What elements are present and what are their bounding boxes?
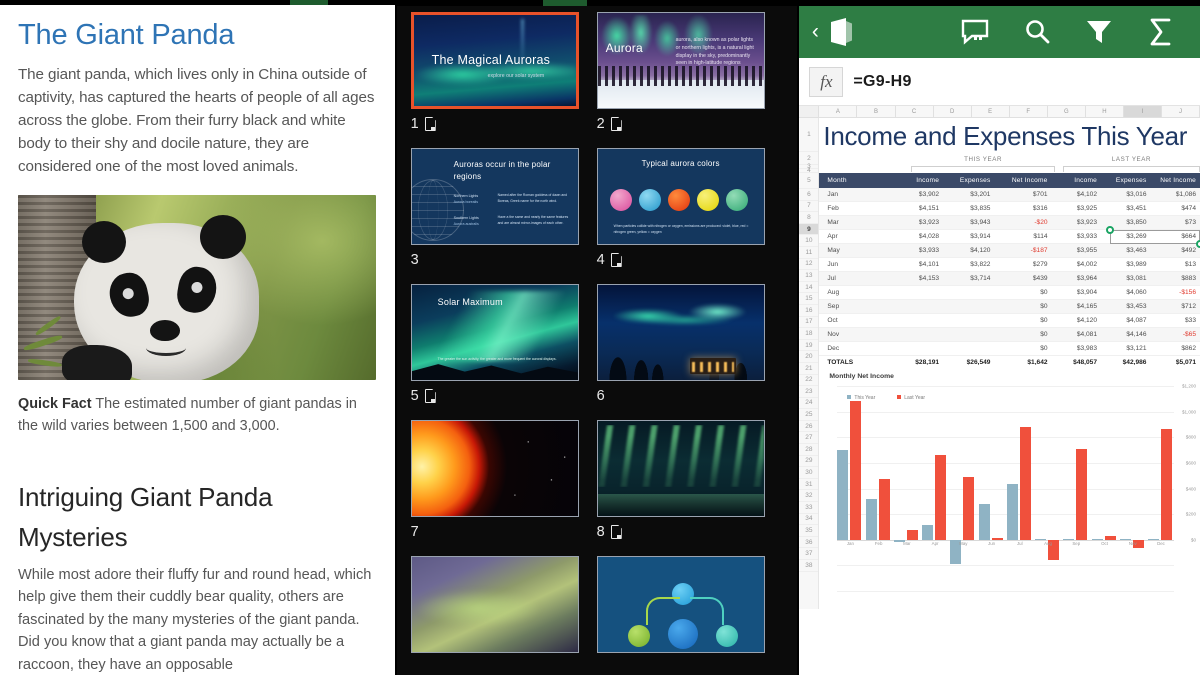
chart-x-tick: Jun: [979, 541, 1005, 546]
color-dot-red: [668, 189, 690, 211]
row-number-37[interactable]: 37: [799, 548, 818, 560]
slide-cell-5[interactable]: Solar Maximum The greater the sun activi…: [411, 284, 579, 406]
table-body[interactable]: Jan$3,902$3,201$701$4,102$3,016$1,086Feb…: [819, 188, 1200, 369]
word-status-bar: [0, 0, 395, 5]
cell-ty-net[interactable]: -$20: [994, 216, 1051, 230]
status-bar-green-accent: [290, 0, 328, 5]
table-row[interactable]: Nov$0$4,081$4,146-$65: [819, 328, 1200, 342]
cell-ty-expenses[interactable]: $4,120: [943, 244, 994, 258]
word-document-body[interactable]: The Giant Panda The giant panda, which l…: [0, 0, 395, 675]
table-row[interactable]: Sep$0$4,165$3,453$712: [819, 300, 1200, 314]
chart-bar: [1092, 539, 1103, 540]
slide-thumbnail-4[interactable]: Typical aurora colors When particles col…: [597, 148, 765, 245]
chart-title: Monthly Net Income: [823, 373, 1198, 380]
slide-number-4: 4: [597, 252, 605, 268]
slide-caption-1: 1: [411, 114, 579, 134]
cell-month[interactable]: Jun: [819, 258, 891, 272]
cell-ty-expenses[interactable]: [943, 328, 994, 342]
row-number-13[interactable]: 13: [799, 270, 818, 282]
chart-bar: [879, 479, 890, 540]
slide-3-body-1: Named after the Roman goddess of dawn an…: [498, 193, 570, 205]
excel-toolbar: ‹: [799, 6, 1200, 58]
row-number-7[interactable]: 7: [799, 201, 818, 213]
table-row[interactable]: Dec$0$3,983$3,121$862: [819, 342, 1200, 356]
cell-ly-expenses[interactable]: $3,850: [1101, 216, 1150, 230]
row-number-19[interactable]: 19: [799, 340, 818, 352]
th-ty-income: Income: [892, 173, 943, 188]
cell-totals-ty-expenses[interactable]: $26,549: [943, 356, 994, 370]
slide-3-def-2: Aurora australis: [454, 221, 479, 227]
slide-5-title: Solar Maximum: [438, 297, 503, 307]
table-row[interactable]: Apr$4,028$3,914$114$3,933$3,269$664: [819, 230, 1200, 244]
slide-notes-icon: [425, 117, 436, 131]
document-title: The Giant Panda: [18, 20, 377, 52]
th-ly-income: Income: [1052, 173, 1101, 188]
slide-thumbnail-7[interactable]: [411, 420, 579, 517]
slide-cell-7[interactable]: 7: [411, 420, 579, 542]
cell-totals-ly-net[interactable]: $5,071: [1150, 356, 1200, 370]
excel-spreadsheet-panel: ‹: [799, 0, 1200, 675]
cell-month[interactable]: Dec: [819, 342, 891, 356]
cell-ly-net[interactable]: $13: [1150, 258, 1200, 272]
chart-bar-group: [1007, 386, 1033, 591]
water-reflection: [598, 494, 764, 516]
sheet-title-cell[interactable]: Income and Expenses This Year: [819, 118, 1200, 153]
slide-4-title: Typical aurora colors: [598, 159, 764, 168]
cell-ty-income[interactable]: [892, 342, 943, 356]
cell-month[interactable]: Aug: [819, 286, 891, 300]
cell-ly-income[interactable]: $4,081: [1052, 328, 1101, 342]
chart-x-tick: Nov: [1120, 541, 1146, 546]
chart-bar-group: [1148, 386, 1174, 591]
slide-notes-icon: [611, 525, 622, 539]
column-header-g[interactable]: G: [1048, 106, 1086, 117]
chart-bar: [1063, 539, 1074, 540]
chart-x-tick: Mar: [894, 541, 920, 546]
row-number-16[interactable]: 16: [799, 305, 818, 317]
cell-ly-net[interactable]: $883: [1150, 272, 1200, 286]
cell-ty-income[interactable]: $4,028: [892, 230, 943, 244]
giant-panda-photo: [18, 195, 376, 380]
smartart-node-left: [628, 625, 650, 647]
row-number-18[interactable]: 18: [799, 328, 818, 340]
cell-ty-income[interactable]: $3,923: [892, 216, 943, 230]
th-ty-expenses: Expenses: [943, 173, 994, 188]
cell-ty-net[interactable]: $0: [994, 328, 1051, 342]
chart-plot-area: $1,200$1,000$800$600$400$200$0JanFebMarA…: [837, 386, 1174, 591]
column-header-f[interactable]: F: [1010, 106, 1048, 117]
smartart-node-right: [716, 625, 738, 647]
monthly-net-income-chart[interactable]: Monthly Net Income This Year Last Year $…: [819, 369, 1200, 609]
slide-cell-6[interactable]: 6: [597, 284, 765, 406]
cell-ly-income[interactable]: $3,983: [1052, 342, 1101, 356]
slide-caption-3: 3: [411, 250, 579, 270]
chart-bar: [1035, 539, 1046, 540]
cell-ty-net[interactable]: $114: [994, 230, 1051, 244]
chart-bar-group: [894, 386, 920, 591]
chart-bar: [1120, 539, 1131, 540]
cell-ty-net[interactable]: $0: [994, 342, 1051, 356]
column-header-e[interactable]: E: [972, 106, 1010, 117]
table-row[interactable]: May$3,933$4,120-$187$3,955$3,463$492: [819, 244, 1200, 258]
cell-ty-net[interactable]: $279: [994, 258, 1051, 272]
slide-cell-2[interactable]: Aurora aurora, also known as polar light…: [597, 12, 765, 134]
cell-ly-net[interactable]: $492: [1150, 244, 1200, 258]
cell-month[interactable]: Oct: [819, 314, 891, 328]
income-expenses-table[interactable]: Month Income Expenses Net Income Income …: [819, 173, 1200, 369]
aurora-glow: [598, 299, 764, 333]
row-number-28[interactable]: 28: [799, 444, 818, 456]
table-row[interactable]: Feb$4,151$3,835$316$3,925$3,451$474: [819, 202, 1200, 216]
cell-ty-expenses[interactable]: [943, 342, 994, 356]
powerpoint-slide-sorter-panel: The Magical Auroras explore our solar sy…: [397, 0, 798, 675]
cell-ly-net[interactable]: $73: [1150, 216, 1200, 230]
column-header-i[interactable]: I: [1124, 106, 1162, 117]
chart-bar-group: [1120, 386, 1146, 591]
slide-cell-10[interactable]: [597, 556, 765, 653]
cell-ty-net[interactable]: $0: [994, 286, 1051, 300]
cell-ly-net[interactable]: -$156: [1150, 286, 1200, 300]
cell-ly-expenses[interactable]: $3,081: [1101, 272, 1150, 286]
cell-ty-income[interactable]: $4,101: [892, 258, 943, 272]
autosum-icon[interactable]: [1130, 17, 1192, 47]
row-number-35[interactable]: 35: [799, 525, 818, 537]
slide-number-7: 7: [411, 524, 419, 540]
chart-y-tick: $1,200: [1182, 384, 1196, 389]
slide-thumbnail-grid[interactable]: The Magical Auroras explore our solar sy…: [411, 12, 784, 653]
cell-ty-income[interactable]: $3,902: [892, 188, 943, 202]
spreadsheet-grid[interactable]: 1234567891011121314151617181920212223242…: [799, 118, 1200, 609]
mountain-silhouette: [412, 358, 578, 380]
slide-notes-icon: [425, 389, 436, 403]
row-number-1[interactable]: 1: [799, 118, 818, 152]
slide-caption-2: 2: [597, 114, 765, 134]
filter-icon[interactable]: [1068, 18, 1130, 46]
slide-thumbnail-2[interactable]: Aurora aurora, also known as polar light…: [597, 12, 765, 109]
slide-cell-9[interactable]: [411, 556, 579, 653]
slide-thumbnail-8[interactable]: [597, 420, 765, 517]
star-field: [412, 421, 578, 516]
quick-fact-callout: Quick Fact The estimated number of giant…: [18, 394, 377, 437]
chart-x-axis-labels: JanFebMarAprMayJunJulAugSepOctNovDec: [837, 541, 1174, 546]
cell-month[interactable]: Jul: [819, 272, 891, 286]
cell-ly-income[interactable]: $3,964: [1052, 272, 1101, 286]
chart-bar: [837, 450, 848, 540]
three-app-comparison-screenshot: The Giant Panda The giant panda, which l…: [0, 0, 1200, 675]
chart-gridline: [837, 591, 1174, 592]
cell-ty-net[interactable]: $701: [994, 188, 1051, 202]
row-number-29[interactable]: 29: [799, 456, 818, 468]
cell-month[interactable]: Nov: [819, 328, 891, 342]
cell-ty-net[interactable]: $0: [994, 300, 1051, 314]
chart-x-tick: Feb: [866, 541, 892, 546]
chart-x-tick: Jan: [837, 541, 863, 546]
globe-gridlines: [411, 179, 464, 241]
band-last-year: LAST YEAR: [1063, 156, 1200, 163]
cell-month[interactable]: Jan: [819, 188, 891, 202]
sheet-content[interactable]: Income and Expenses This Year THIS YEAR …: [819, 118, 1200, 609]
row-number-27[interactable]: 27: [799, 432, 818, 444]
cell-ly-income[interactable]: $4,120: [1052, 314, 1101, 328]
cell-ty-income[interactable]: [892, 286, 943, 300]
row-number-26[interactable]: 26: [799, 421, 818, 433]
cell-ly-expenses[interactable]: $3,463: [1101, 244, 1150, 258]
row-number-31[interactable]: 31: [799, 479, 818, 491]
cell-ty-net[interactable]: $316: [994, 202, 1051, 216]
chart-bar: [979, 504, 990, 540]
smartart-connector-right: [690, 597, 724, 625]
row-number-6[interactable]: 6: [799, 189, 818, 201]
slide-thumbnail-3[interactable]: Auroras occur in the polar regions North…: [411, 148, 579, 245]
cell-ty-income[interactable]: [892, 314, 943, 328]
slide-caption-7: 7: [411, 522, 579, 542]
cell-ly-income[interactable]: $3,904: [1052, 286, 1101, 300]
row-number-23[interactable]: 23: [799, 386, 818, 398]
cell-month[interactable]: May: [819, 244, 891, 258]
row-number-34[interactable]: 34: [799, 514, 818, 526]
chart-bar-group: [922, 386, 948, 591]
chart-bar: [1076, 449, 1087, 540]
aurora-swirl: [412, 557, 578, 652]
cell-month[interactable]: Apr: [819, 230, 891, 244]
row-number-10[interactable]: 10: [799, 235, 818, 247]
cell-ly-net[interactable]: $664: [1150, 230, 1200, 244]
cell-ty-expenses[interactable]: $3,914: [943, 230, 994, 244]
slide-thumbnail-6[interactable]: [597, 284, 765, 381]
column-header-j[interactable]: J: [1162, 106, 1200, 117]
cell-ly-expenses[interactable]: $4,060: [1101, 286, 1150, 300]
th-month: Month: [819, 173, 891, 188]
cell-totals-ty-net[interactable]: $1,642: [994, 356, 1051, 370]
row-number-32[interactable]: 32: [799, 490, 818, 502]
cell-ly-expenses[interactable]: $3,269: [1101, 230, 1150, 244]
cell-ty-expenses[interactable]: [943, 286, 994, 300]
chart-bar-group: [979, 386, 1005, 591]
chart-x-tick: Apr: [922, 541, 948, 546]
cell-ly-net[interactable]: -$65: [1150, 328, 1200, 342]
cell-ly-expenses[interactable]: $3,016: [1101, 188, 1150, 202]
chart-bar: [963, 477, 974, 540]
cell-ly-net[interactable]: $1,086: [1150, 188, 1200, 202]
table-header-row: Month Income Expenses Net Income Income …: [819, 173, 1200, 188]
slide-1-subtitle: explore our solar system: [488, 73, 545, 79]
formula-bar[interactable]: fx =G9-H9: [799, 58, 1200, 106]
row-number-30[interactable]: 30: [799, 467, 818, 479]
row-number-25[interactable]: 25: [799, 409, 818, 421]
column-headers[interactable]: A B C D E F G H I J: [799, 106, 1200, 118]
table-row[interactable]: Jul$4,153$3,714$439$3,964$3,081$883: [819, 272, 1200, 286]
cell-totals-ty-income[interactable]: $28,191: [892, 356, 943, 370]
slide-thumbnail-10[interactable]: [597, 556, 765, 653]
chart-y-tick: $1,000: [1182, 409, 1196, 414]
slide-number-6: 6: [597, 388, 605, 404]
table-row[interactable]: Mar$3,923$3,943-$20$3,923$3,850$73: [819, 216, 1200, 230]
cell-ly-income[interactable]: $3,955: [1052, 244, 1101, 258]
cell-ly-expenses[interactable]: $3,451: [1101, 202, 1150, 216]
slide-2-subtitle: aurora, also known as polar lights or no…: [676, 37, 758, 68]
cell-month[interactable]: Mar: [819, 216, 891, 230]
cell-totals-ly-income[interactable]: $48,057: [1052, 356, 1101, 370]
cell-ly-income[interactable]: $3,925: [1052, 202, 1101, 216]
cell-ty-expenses[interactable]: [943, 314, 994, 328]
cell-ty-net[interactable]: -$187: [994, 244, 1051, 258]
row-number-14[interactable]: 14: [799, 282, 818, 294]
chart-bar: [1007, 484, 1018, 540]
row-number-9[interactable]: 9: [799, 224, 818, 236]
table-row[interactable]: Oct$0$4,120$4,087$33: [819, 314, 1200, 328]
cell-ty-income[interactable]: [892, 328, 943, 342]
color-dot-green: [726, 189, 748, 211]
cell-ty-income[interactable]: $4,151: [892, 202, 943, 216]
cell-ly-expenses[interactable]: $4,146: [1101, 328, 1150, 342]
cell-ty-expenses[interactable]: $3,201: [943, 188, 994, 202]
slide-2-title: Aurora: [606, 41, 643, 55]
row-number-15[interactable]: 15: [799, 293, 818, 305]
row-number-17[interactable]: 17: [799, 317, 818, 329]
column-header-c[interactable]: C: [896, 106, 934, 117]
smartart-connector-left: [646, 597, 680, 625]
cell-ty-net[interactable]: $439: [994, 272, 1051, 286]
ppt-status-bar: [397, 0, 798, 6]
row-number-gutter[interactable]: 1234567891011121314151617181920212223242…: [799, 118, 819, 609]
cell-ly-net[interactable]: $474: [1150, 202, 1200, 216]
office-logo-icon[interactable]: [827, 17, 855, 47]
slide-caption-5: 5: [411, 386, 579, 406]
slide-caption-8: 8: [597, 522, 765, 542]
cell-ty-expenses[interactable]: $3,714: [943, 272, 994, 286]
cell-ly-income[interactable]: $3,933: [1052, 230, 1101, 244]
aurora-curtain: [598, 425, 764, 487]
chart-x-tick: Oct: [1092, 541, 1118, 546]
row-number-11[interactable]: 11: [799, 247, 818, 259]
chart-bar: [907, 530, 918, 539]
table-row[interactable]: Aug$0$3,904$4,060-$156: [819, 286, 1200, 300]
column-header-a[interactable]: A: [819, 106, 857, 117]
slide-thumbnail-9[interactable]: [411, 556, 579, 653]
formula-input[interactable]: =G9-H9: [853, 73, 911, 91]
chart-y-tick: $0: [1191, 537, 1196, 542]
column-header-d[interactable]: D: [934, 106, 972, 117]
cell-ty-income[interactable]: $4,153: [892, 272, 943, 286]
chart-bar: [922, 525, 933, 540]
cell-ly-income[interactable]: $4,002: [1052, 258, 1101, 272]
slide-caption-6: 6: [597, 386, 765, 406]
smartart-diagram: [598, 557, 764, 652]
cell-ly-net[interactable]: $712: [1150, 300, 1200, 314]
row-number-36[interactable]: 36: [799, 537, 818, 549]
column-header-h[interactable]: H: [1086, 106, 1124, 117]
chart-y-tick: $600: [1186, 460, 1196, 465]
slide-cell-3[interactable]: Auroras occur in the polar regions North…: [411, 148, 579, 270]
cell-ly-income[interactable]: $3,923: [1052, 216, 1101, 230]
search-icon[interactable]: [1006, 18, 1068, 46]
row-number-38[interactable]: 38: [799, 560, 818, 572]
document-body-paragraph-2: While most adore their fluffy fur and ro…: [18, 564, 377, 675]
chart-y-tick: $400: [1186, 486, 1196, 491]
row-number-33[interactable]: 33: [799, 502, 818, 514]
chart-bar-group: [950, 386, 976, 591]
cell-totals-label[interactable]: TOTALS: [819, 356, 891, 370]
slide-1-title: The Magical Auroras: [432, 53, 550, 67]
year-band-row: THIS YEAR LAST YEAR: [819, 153, 1200, 166]
back-chevron-icon[interactable]: ‹: [805, 20, 825, 44]
cell-month[interactable]: Sep: [819, 300, 891, 314]
cell-month[interactable]: Feb: [819, 202, 891, 216]
cell-ty-income[interactable]: [892, 300, 943, 314]
cell-ly-expenses[interactable]: $3,989: [1101, 258, 1150, 272]
cell-ty-expenses[interactable]: $3,822: [943, 258, 994, 272]
select-all-corner[interactable]: [799, 106, 819, 117]
chart-y-tick: $200: [1186, 512, 1196, 517]
slide-thumbnail-1[interactable]: The Magical Auroras explore our solar sy…: [411, 12, 579, 109]
color-dot-blue: [639, 189, 661, 211]
word-document-panel: The Giant Panda The giant panda, which l…: [0, 0, 395, 675]
fx-button[interactable]: fx: [809, 67, 843, 97]
slide-cell-8[interactable]: 8: [597, 420, 765, 542]
cell-ly-expenses[interactable]: $3,453: [1101, 300, 1150, 314]
slide-cell-4[interactable]: Typical aurora colors When particles col…: [597, 148, 765, 270]
row-number-21[interactable]: 21: [799, 363, 818, 375]
slide-number-1: 1: [411, 116, 419, 132]
cell-ly-income[interactable]: $4,165: [1052, 300, 1101, 314]
chart-bar-group: [1035, 386, 1061, 591]
slide-number-3: 3: [411, 252, 419, 268]
table-totals-row[interactable]: TOTALS$28,191$26,549$1,642$48,057$42,986…: [819, 356, 1200, 370]
column-header-b[interactable]: B: [857, 106, 895, 117]
slide-number-5: 5: [411, 388, 419, 404]
row-number-20[interactable]: 20: [799, 351, 818, 363]
cell-ly-expenses[interactable]: $3,121: [1101, 342, 1150, 356]
th-ly-expenses: Expenses: [1101, 173, 1150, 188]
cell-ty-net[interactable]: $0: [994, 314, 1051, 328]
table-row[interactable]: Jan$3,902$3,201$701$4,102$3,016$1,086: [819, 188, 1200, 202]
cell-ty-expenses[interactable]: $3,943: [943, 216, 994, 230]
cell-ty-expenses[interactable]: $3,835: [943, 202, 994, 216]
chart-bar: [992, 538, 1003, 540]
comment-icon[interactable]: [944, 19, 1006, 45]
cell-ly-expenses[interactable]: $4,087: [1101, 314, 1150, 328]
color-dot-yellow: [697, 189, 719, 211]
table-row[interactable]: Jun$4,101$3,822$279$4,002$3,989$13: [819, 258, 1200, 272]
cell-ty-income[interactable]: $3,933: [892, 244, 943, 258]
band-this-year: THIS YEAR: [911, 156, 1056, 163]
chart-bar: [1161, 429, 1172, 539]
cell-ly-net[interactable]: $862: [1150, 342, 1200, 356]
row-number-5[interactable]: 5: [799, 173, 818, 189]
cell-ly-income[interactable]: $4,102: [1052, 188, 1101, 202]
row-number-24[interactable]: 24: [799, 398, 818, 410]
pine-trees: [598, 334, 764, 380]
cell-ty-expenses[interactable]: [943, 300, 994, 314]
chart-x-tick: Aug: [1035, 541, 1061, 546]
chart-bar-group: [837, 386, 863, 591]
chart-bar: [1148, 539, 1159, 540]
slide-thumbnail-5[interactable]: Solar Maximum The greater the sun activi…: [411, 284, 579, 381]
row-number-8[interactable]: 8: [799, 212, 818, 224]
cell-ly-net[interactable]: $33: [1150, 314, 1200, 328]
chart-y-tick: $800: [1186, 435, 1196, 440]
cell-totals-ly-expenses[interactable]: $42,986: [1101, 356, 1150, 370]
ppt-status-green-accent: [543, 0, 587, 6]
chart-x-tick: Jul: [1007, 541, 1033, 546]
chart-bar-group: [866, 386, 892, 591]
row-number-22[interactable]: 22: [799, 375, 818, 387]
row-number-12[interactable]: 12: [799, 259, 818, 271]
slide-cell-1[interactable]: The Magical Auroras explore our solar sy…: [411, 12, 579, 134]
slide-3-def-1: Aurora borealis: [454, 199, 478, 205]
document-heading-2: Intriguing Giant Panda Mysteries: [18, 477, 377, 558]
chart-bar: [1105, 536, 1116, 540]
